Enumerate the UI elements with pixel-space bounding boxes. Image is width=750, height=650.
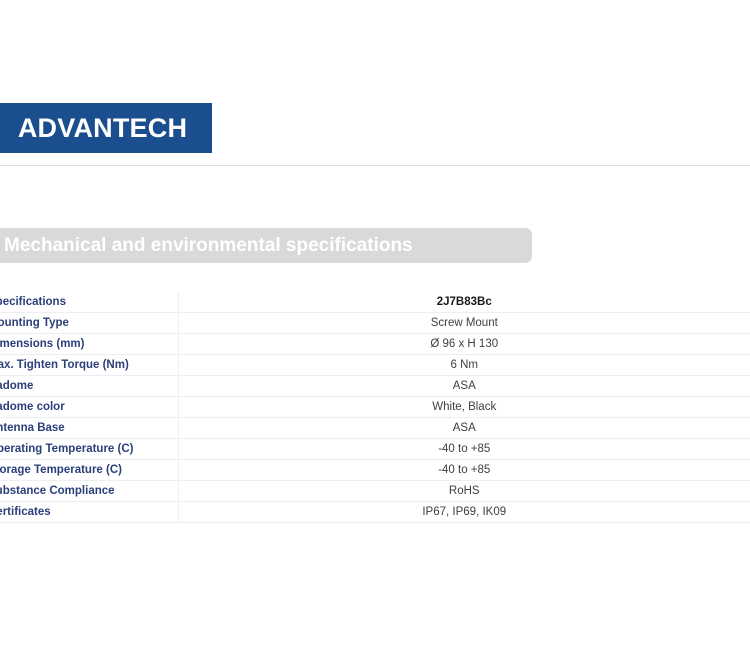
- spec-label: Certificates: [0, 502, 178, 523]
- table-row: Antenna BaseASA: [0, 418, 750, 439]
- advantech-logo-text: ADVANTECH: [18, 113, 187, 144]
- column-header-model: 2J7B83Bc: [178, 292, 750, 313]
- specification-table-body: Specifications 2J7B83Bc Mounting TypeScr…: [0, 292, 750, 523]
- table-row: Operating Temperature (C)-40 to +85: [0, 439, 750, 460]
- specification-table-container: Specifications 2J7B83Bc Mounting TypeScr…: [0, 292, 750, 523]
- spec-label: Antenna Base: [0, 418, 178, 439]
- spec-label: Radome color: [0, 397, 178, 418]
- page-header: ADVANTECH: [0, 0, 750, 172]
- spec-label: Radome: [0, 376, 178, 397]
- table-row: Substance ComplianceRoHS: [0, 481, 750, 502]
- spec-value: White, Black: [178, 397, 750, 418]
- header-divider: [0, 165, 750, 166]
- spec-label: Operating Temperature (C): [0, 439, 178, 460]
- spec-label: Max. Tighten Torque (Nm): [0, 355, 178, 376]
- datasheet-page: ADVANTECH Mechanical and environmental s…: [0, 0, 750, 650]
- table-row: CertificatesIP67, IP69, IK09: [0, 502, 750, 523]
- spec-value: Ø 96 x H 130: [178, 334, 750, 355]
- table-row: RadomeASA: [0, 376, 750, 397]
- advantech-logo: ADVANTECH: [0, 103, 212, 153]
- spec-value: ASA: [178, 376, 750, 397]
- spec-value: ASA: [178, 418, 750, 439]
- table-row: Radome colorWhite, Black: [0, 397, 750, 418]
- table-row: Max. Tighten Torque (Nm)6 Nm: [0, 355, 750, 376]
- spec-value: -40 to +85: [178, 460, 750, 481]
- table-row: Mounting TypeScrew Mount: [0, 313, 750, 334]
- spec-label: Substance Compliance: [0, 481, 178, 502]
- table-row: Storage Temperature (C)-40 to +85: [0, 460, 750, 481]
- spec-value: IP67, IP69, IK09: [178, 502, 750, 523]
- spec-label: Dimensions (mm): [0, 334, 178, 355]
- table-header-row: Specifications 2J7B83Bc: [0, 292, 750, 313]
- spec-value: -40 to +85: [178, 439, 750, 460]
- section-title-text: Mechanical and environmental specificati…: [0, 235, 413, 257]
- spec-value: 6 Nm: [178, 355, 750, 376]
- specification-table: Specifications 2J7B83Bc Mounting TypeScr…: [0, 292, 750, 523]
- spec-value: Screw Mount: [178, 313, 750, 334]
- section-title-bar: Mechanical and environmental specificati…: [0, 228, 532, 263]
- table-row: Dimensions (mm)Ø 96 x H 130: [0, 334, 750, 355]
- spec-label: Storage Temperature (C): [0, 460, 178, 481]
- spec-label: Mounting Type: [0, 313, 178, 334]
- column-header-specifications: Specifications: [0, 292, 178, 313]
- spec-value: RoHS: [178, 481, 750, 502]
